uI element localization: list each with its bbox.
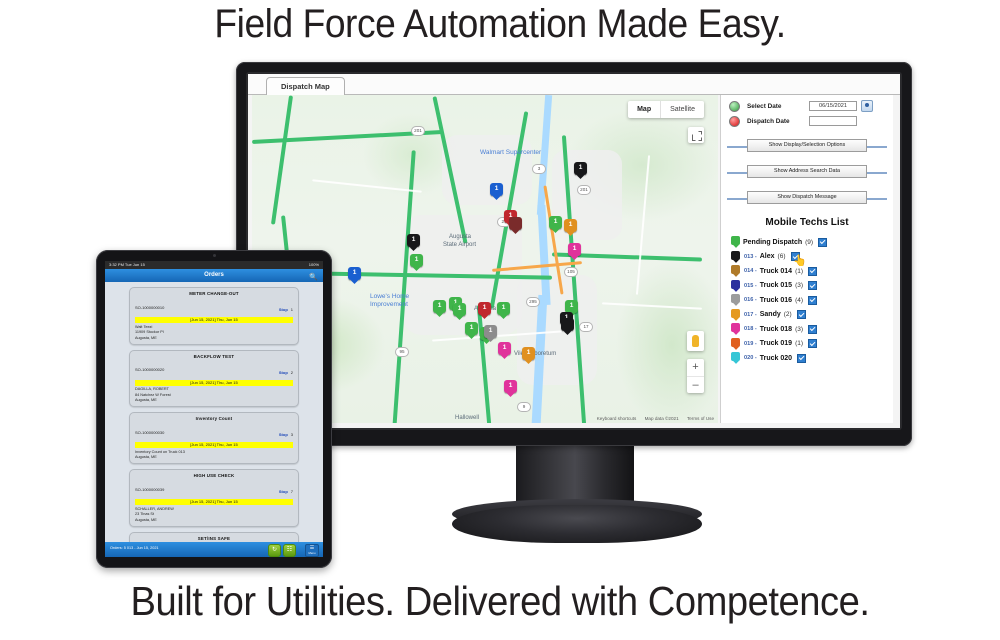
red-status-icon[interactable] — [729, 116, 740, 127]
map-marker-pin[interactable]: 1 — [348, 267, 361, 284]
tablet-bottom-bar: Orders: 5 013 - Jun 15, 2021 ↻ ☷ ☰ Menu — [105, 542, 323, 557]
map-label: State Airport — [443, 242, 476, 248]
mobile-techs-list-title: Mobile Techs List — [721, 217, 893, 228]
order-card[interactable]: METER CHANGE-OUTSO-1000000010Stop1[Jun 1… — [129, 287, 299, 345]
order-card[interactable]: Inventory CountSO-1000000030Stop3[Jun 15… — [129, 412, 299, 464]
map-marker-pin[interactable]: 1 — [497, 302, 510, 319]
map-route-shield: 95 — [395, 347, 409, 357]
dispatch-date-row: Dispatch Date — [729, 116, 790, 127]
sync-icon[interactable]: ↻ — [268, 544, 281, 557]
order-city: Augusta, ME — [135, 398, 293, 402]
order-title: BACKFLOW TEST — [135, 354, 293, 359]
tech-visibility-checkbox[interactable] — [797, 310, 806, 319]
map-marker-pin[interactable]: 1 — [465, 322, 478, 339]
dispatch-date-input[interactable] — [809, 116, 857, 126]
map-label: Augusta — [449, 234, 471, 240]
tech-marker-icon — [731, 280, 740, 292]
tablet-title: Orders — [204, 272, 224, 278]
tech-order-count: (6) — [778, 253, 786, 260]
tech-name: Sandy — [760, 311, 781, 318]
tech-marker-icon — [731, 236, 740, 248]
home-icon[interactable]: ☰ Menu — [305, 544, 319, 557]
map-type-satellite[interactable]: Satellite — [661, 101, 704, 118]
tech-name: Alex — [760, 253, 775, 260]
tech-id: 020 - — [744, 355, 757, 361]
map-marker-pin[interactable]: 1 — [410, 254, 423, 271]
tech-list-item[interactable]: 019 -Truck 019(1) — [731, 337, 891, 352]
mobile-techs-list[interactable]: Pending Dispatch(9)013 -Alex(6)👆014 -Tru… — [731, 235, 891, 366]
page-headline-top: Field Force Automation Made Easy. — [35, 2, 965, 47]
tech-marker-icon — [731, 338, 740, 350]
map-route-shield: 9 — [517, 402, 531, 412]
calendar-picker-icon[interactable] — [861, 100, 873, 112]
tech-id: 019 - — [744, 341, 757, 347]
tech-name: Truck 014 — [760, 268, 792, 275]
tech-list-item[interactable]: 017 -Sandy(2) — [731, 308, 891, 323]
order-id: SO-1000000039 — [135, 487, 164, 492]
order-customer-name: Inventory Count on Truck 013 — [135, 450, 293, 454]
tech-name: Truck 016 — [760, 297, 792, 304]
mouse-cursor-icon: 👆 — [793, 251, 804, 264]
tech-visibility-checkbox[interactable] — [808, 339, 817, 348]
order-city: Augusta, ME — [135, 518, 293, 522]
tech-order-count: (4) — [795, 297, 803, 304]
tech-marker-icon — [731, 323, 740, 335]
map-label: Improvement — [370, 301, 408, 308]
map-type-map[interactable]: Map — [628, 101, 661, 118]
tech-order-count: (1) — [795, 340, 803, 347]
tech-list-item[interactable]: 013 -Alex(6)👆 — [731, 250, 891, 265]
map-route-shield: 105 — [564, 267, 578, 277]
tech-marker-icon — [731, 309, 740, 321]
tab-strip: Dispatch Map — [248, 74, 900, 95]
tech-list-item[interactable]: Pending Dispatch(9) — [731, 235, 891, 250]
map-marker-pin[interactable]: 1 — [564, 219, 577, 236]
order-customer-name: SCHALLER, ANDREW — [135, 507, 293, 511]
zoom-in-button[interactable]: + — [687, 359, 704, 377]
order-city: Augusta, ME — [135, 455, 293, 459]
order-date: [Jun 15, 2021] Thu, Jun 15 — [135, 317, 293, 323]
order-stop-number: 2 — [291, 370, 293, 375]
tech-marker-icon — [731, 251, 740, 263]
tab-dispatch-map[interactable]: Dispatch Map — [266, 77, 345, 95]
order-city: Augusta, ME — [135, 336, 293, 340]
monitor-stand-base — [452, 505, 702, 543]
map-marker-pin[interactable]: 1 — [549, 216, 562, 233]
document-icon[interactable]: ☷ — [283, 544, 296, 557]
orders-summary: Orders: 5 013 - Jun 15, 2021 — [110, 546, 159, 550]
order-stop-number: 7 — [291, 489, 293, 494]
tech-list-item[interactable]: 015 -Truck 015(3) — [731, 279, 891, 294]
select-date-input[interactable]: 06/15/2021 — [809, 101, 857, 111]
zoom-out-button[interactable]: – — [687, 377, 704, 394]
address-search-row: Show Address Search Data — [727, 165, 887, 178]
map-label: Lowe's Home — [370, 293, 409, 300]
status-time: 3:32 PM Tue Jun 15 — [109, 261, 145, 269]
tech-visibility-checkbox[interactable] — [808, 296, 817, 305]
tech-name: Truck 020 — [760, 355, 792, 362]
map-marker-pin[interactable]: 1 — [498, 342, 511, 359]
keyboard-shortcuts-link[interactable]: Keyboard shortcuts — [597, 416, 637, 421]
dispatch-application: Dispatch Map — [248, 74, 900, 428]
order-address: 23 Tinas St — [135, 512, 293, 516]
tech-id: 016 - — [744, 297, 757, 303]
tablet-camera — [213, 254, 216, 257]
tablet-screen: 3:32 PM Tue Jun 15 100% Orders 🔍 METER C… — [105, 261, 323, 557]
map-marker-pin[interactable]: 1 — [490, 183, 503, 200]
show-display-selection-options-button[interactable]: Show Display/Selection Options — [747, 139, 867, 152]
map-type-switcher[interactable]: Map Satellite — [628, 101, 704, 118]
status-battery: 100% — [309, 261, 319, 269]
tech-visibility-checkbox[interactable] — [808, 325, 817, 334]
tech-id: 015 - — [744, 283, 757, 289]
show-address-search-data-button[interactable]: Show Address Search Data — [747, 165, 867, 178]
tech-marker-icon — [731, 265, 740, 277]
tech-list-item[interactable]: 016 -Truck 016(4) — [731, 293, 891, 308]
map-marker-pin[interactable]: 1 — [484, 325, 497, 342]
map-zoom-controls[interactable]: + – — [687, 359, 704, 393]
tech-name: Truck 019 — [760, 340, 792, 347]
tech-visibility-checkbox[interactable] — [808, 267, 817, 276]
home-label: Menu — [306, 551, 318, 555]
map-route-shield: 295 — [526, 297, 540, 307]
select-date-label: Select Date — [747, 103, 781, 110]
orders-list[interactable]: METER CHANGE-OUTSO-1000000010Stop1[Jun 1… — [105, 282, 323, 542]
order-stop-label: Stop — [279, 489, 288, 494]
map-label: Walmart Supercenter — [480, 149, 541, 156]
tech-visibility-checkbox[interactable] — [808, 281, 817, 290]
tech-marker-icon — [731, 294, 740, 306]
tech-order-count: (9) — [805, 239, 813, 246]
order-date: [Jun 15, 2021] Thu, Jun 15 — [135, 442, 293, 448]
dispatch-date-label: Dispatch Date — [747, 118, 790, 125]
tech-order-count: (3) — [795, 282, 803, 289]
order-card[interactable]: HIGH USE CHECKSO-1000000039Stop7[Jun 15,… — [129, 469, 299, 527]
map-footer: Keyboard shortcuts Map data ©2021 Terms … — [590, 416, 714, 421]
display-options-row: Show Display/Selection Options — [727, 139, 887, 152]
order-id: SO-1000000020 — [135, 367, 164, 372]
monitor-screen: Dispatch Map — [248, 74, 900, 428]
map-marker-pin[interactable] — [509, 217, 522, 234]
map-marker-pin[interactable]: 1 — [478, 302, 491, 319]
order-stop-label: Stop — [279, 432, 288, 437]
map-label: Viles Arboretum — [514, 351, 556, 357]
street-view-pegman-icon[interactable] — [687, 331, 704, 351]
tech-name: Pending Dispatch — [743, 239, 802, 246]
terms-of-use-link[interactable]: Terms of Use — [687, 416, 714, 421]
map-route-shield: 201 — [577, 185, 591, 195]
map-marker-pin[interactable]: 1 — [522, 347, 535, 364]
dispatch-side-panel: Select Date 06/15/2021 Dispatch Date Sho… — [720, 95, 893, 423]
tech-id: 018 - — [744, 326, 757, 332]
order-id: SO-1000000030 — [135, 430, 164, 435]
dispatch-message-row: Show Dispatch Message — [727, 191, 887, 204]
order-title: Inventory Count — [135, 416, 293, 421]
order-title: SET/INS SAFE — [135, 536, 293, 541]
tablet-device: 3:32 PM Tue Jun 15 100% Orders 🔍 METER C… — [96, 250, 332, 568]
order-customer-name: DAGILLA, ROBERT — [135, 387, 293, 391]
page-headline-bottom: Built for Utilities. Delivered with Comp… — [35, 578, 965, 625]
tech-list-item[interactable]: 018 -Truck 018(3) — [731, 322, 891, 337]
order-title: HIGH USE CHECK — [135, 473, 293, 478]
tech-name: Truck 018 — [760, 326, 792, 333]
tech-id: 013 - — [744, 254, 757, 260]
fullscreen-icon[interactable] — [688, 127, 704, 143]
tech-name: Truck 015 — [760, 282, 792, 289]
order-id: SO-1000000010 — [135, 305, 164, 310]
order-stop-number: 1 — [291, 307, 293, 312]
tech-list-item[interactable]: 020 -Truck 020 — [731, 351, 891, 366]
map-route-shield: 17 — [579, 322, 593, 332]
tech-id: 017 - — [744, 312, 757, 318]
order-date: [Jun 15, 2021] Thu, Jun 15 — [135, 499, 293, 505]
order-address: 84 Natchez W Forest — [135, 393, 293, 397]
order-stop-label: Stop — [279, 370, 288, 375]
map-attribution: Map data ©2021 — [645, 416, 679, 421]
order-card[interactable]: BACKFLOW TESTSO-1000000020Stop2[Jun 15, … — [129, 350, 299, 408]
order-stop-number: 3 — [291, 432, 293, 437]
map-route-shield: 201 — [411, 126, 425, 136]
map-marker-pin[interactable]: 1 — [568, 243, 581, 260]
map-label: Hallowell — [455, 415, 479, 421]
tech-visibility-checkbox[interactable] — [818, 238, 827, 247]
order-card[interactable]: SET/INS SAFESO-1000000099Stop9[Jun 15, 2… — [129, 532, 299, 543]
map-route-shield: 3 — [532, 164, 546, 174]
order-customer-name: Walt Teezi — [135, 325, 293, 329]
order-title: METER CHANGE-OUT — [135, 291, 293, 296]
order-date: [Jun 15, 2021] Thu, Jun 15 — [135, 380, 293, 386]
select-date-row: Select Date — [729, 101, 781, 112]
show-dispatch-message-button[interactable]: Show Dispatch Message — [747, 191, 867, 204]
tech-id: 014 - — [744, 268, 757, 274]
map-urban-area — [552, 150, 622, 240]
refresh-green-icon[interactable] — [729, 101, 740, 112]
tech-order-count: (2) — [784, 311, 792, 318]
tech-visibility-checkbox[interactable] — [797, 354, 806, 363]
map-marker-pin[interactable]: 1 — [407, 234, 420, 251]
tech-marker-icon — [731, 352, 740, 364]
tablet-title-bar: Orders 🔍 — [105, 269, 323, 282]
map-marker-pin[interactable]: 1 — [453, 303, 466, 320]
desktop-monitor: Dispatch Map — [236, 62, 912, 446]
map-marker-pin[interactable]: 1 — [574, 162, 587, 179]
tech-order-count: (3) — [795, 326, 803, 333]
tablet-status-bar: 3:32 PM Tue Jun 15 100% — [105, 261, 323, 269]
tech-order-count: (1) — [795, 268, 803, 275]
tech-list-item[interactable]: 014 -Truck 014(1) — [731, 264, 891, 279]
map-marker-pin[interactable]: 1 — [433, 300, 446, 317]
map-marker-pin[interactable] — [561, 318, 574, 335]
map-marker-pin[interactable]: 1 — [504, 380, 517, 397]
order-stop-label: Stop — [279, 307, 288, 312]
order-address: 11909 Stockor Pl — [135, 330, 293, 334]
